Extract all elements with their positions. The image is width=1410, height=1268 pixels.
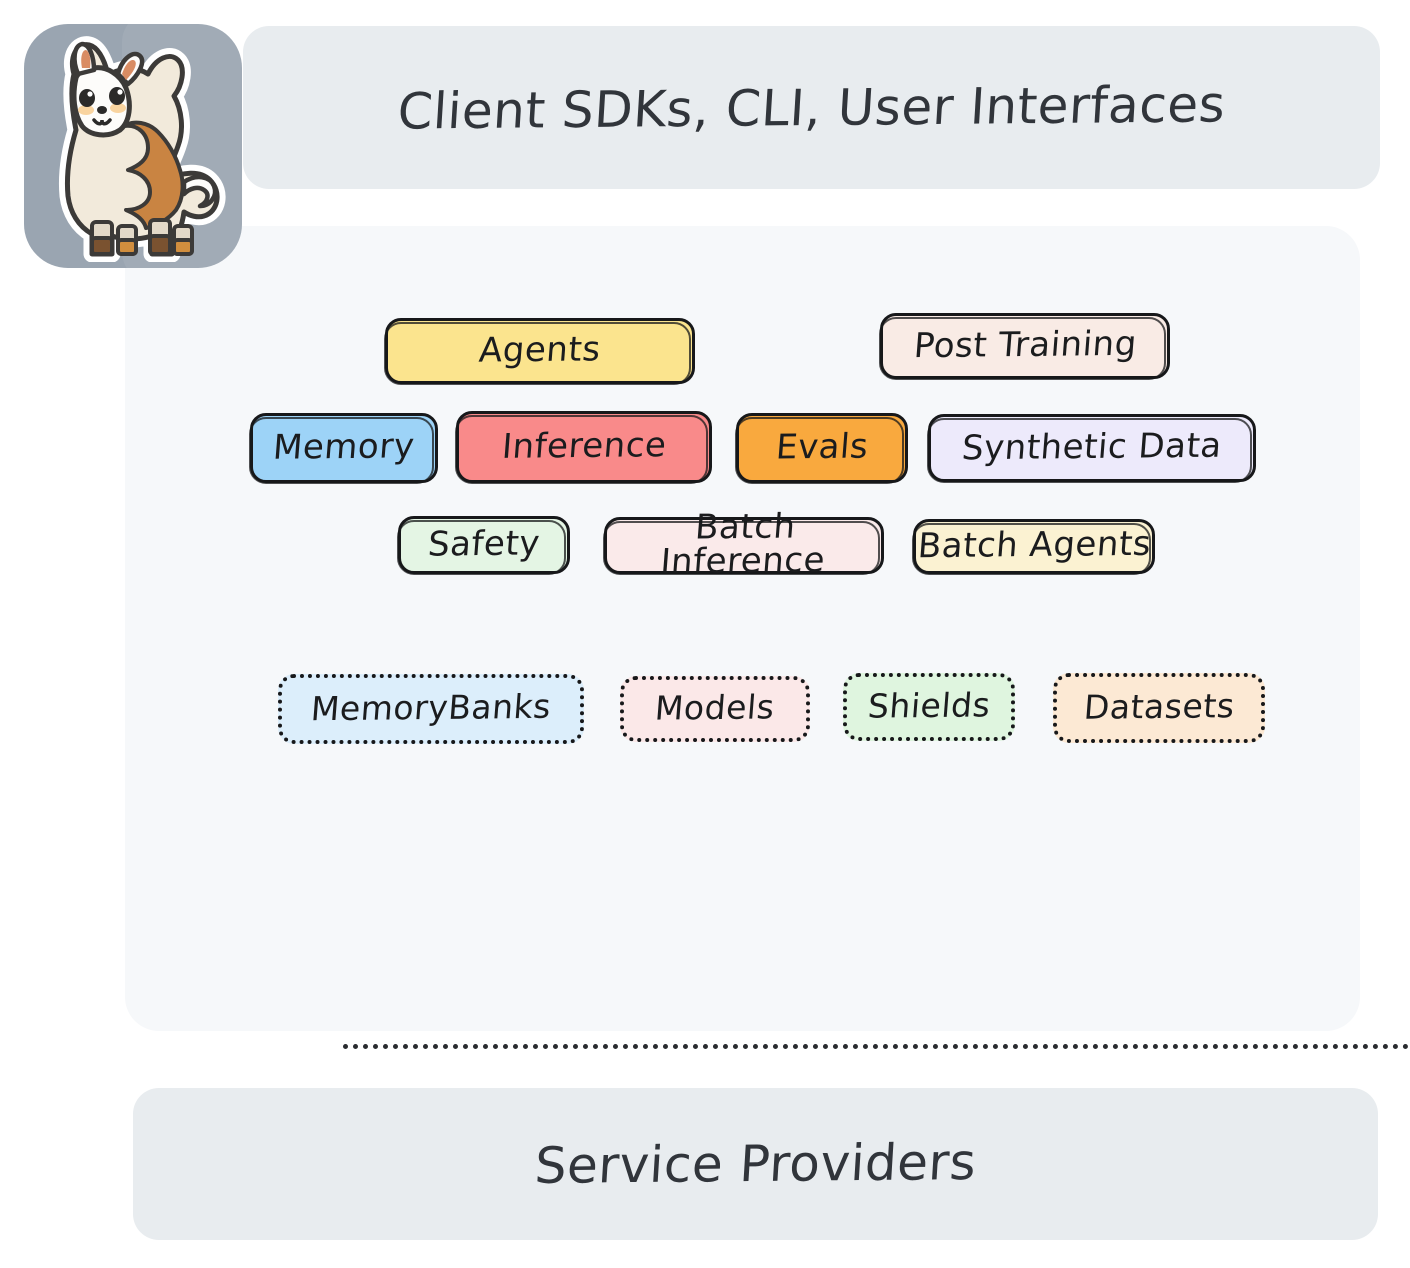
api-box-agents[interactable]: Agents (385, 318, 695, 384)
api-box-label: Synthetic Data (961, 428, 1224, 468)
resource-box-label: Datasets (1082, 686, 1236, 730)
api-box-post-training[interactable]: Post Training (880, 313, 1170, 379)
api-box-label: Batch Inference (604, 509, 884, 583)
api-box-label: Batch Agents (916, 527, 1152, 566)
llama-logo-tile (24, 24, 242, 268)
api-box-batch-inference[interactable]: Batch Inference (604, 517, 884, 574)
resource-box-label: Models (654, 687, 777, 730)
resource-box-datasets[interactable]: Datasets (1053, 673, 1265, 743)
resource-box-shields[interactable]: Shields (843, 673, 1015, 741)
resource-box-models[interactable]: Models (620, 676, 810, 742)
api-box-label: Agents (478, 332, 602, 370)
client-layer-banner: Client SDKs, CLI, User Interfaces (243, 26, 1380, 189)
client-layer-label: Client SDKs, CLI, User Interfaces (396, 75, 1227, 140)
service-providers-banner: Service Providers (133, 1088, 1378, 1240)
api-box-memory[interactable]: Memory (250, 413, 438, 483)
resource-box-memorybanks[interactable]: MemoryBanks (278, 674, 584, 744)
api-box-label: Safety (427, 526, 542, 564)
api-box-batch-agents[interactable]: Batch Agents (913, 519, 1155, 574)
api-box-label: Inference (500, 428, 667, 467)
api-box-label: Evals (774, 429, 869, 467)
api-box-safety[interactable]: Safety (398, 516, 570, 574)
api-box-evals[interactable]: Evals (736, 413, 908, 483)
api-box-label: Post Training (912, 326, 1138, 365)
resource-box-label: MemoryBanks (309, 687, 552, 732)
resource-box-label: Shields (866, 685, 991, 728)
dotted-divider (343, 1044, 1410, 1049)
api-box-synthetic-data[interactable]: Synthetic Data (928, 414, 1256, 482)
llama-logo-icon (32, 30, 237, 262)
api-box-label: Memory (272, 429, 416, 467)
llama-stack-panel: AgentsPost TrainingMemoryInferenceEvalsS… (125, 226, 1360, 1031)
service-providers-label: Service Providers (533, 1133, 978, 1195)
api-box-inference[interactable]: Inference (456, 411, 712, 483)
